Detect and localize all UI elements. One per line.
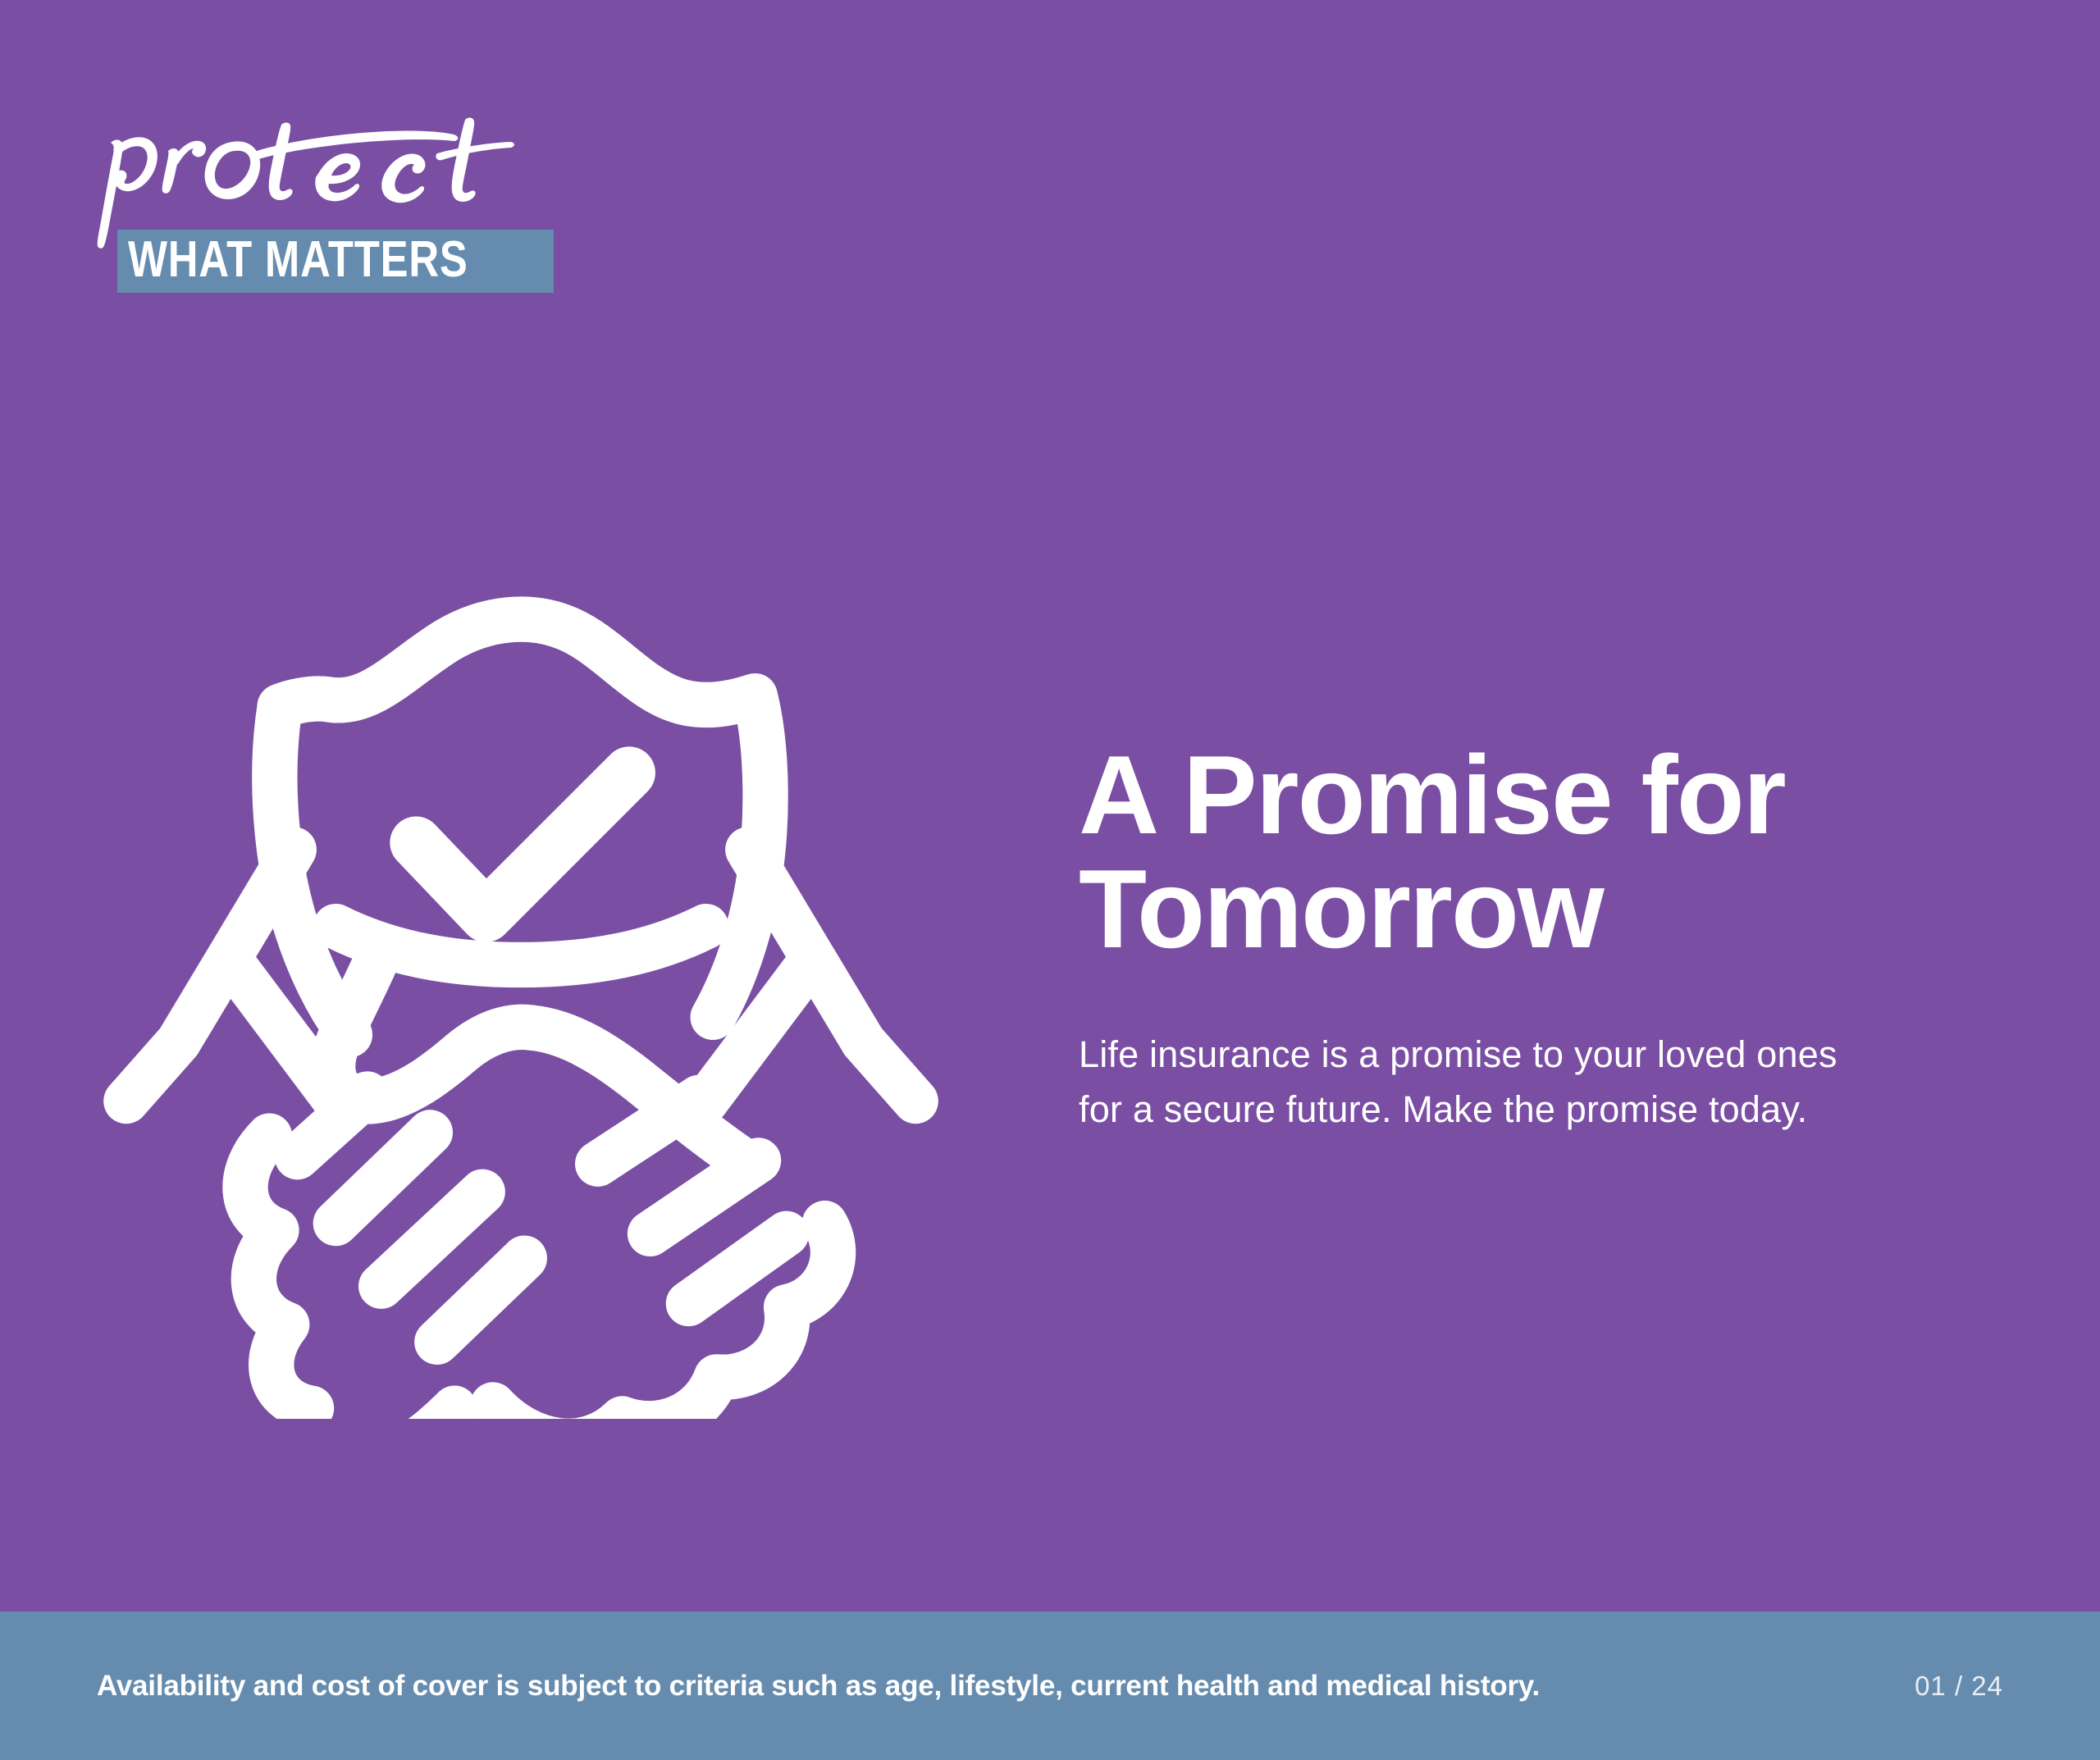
left-finger-3 [381, 1192, 482, 1286]
left-finger-4 [437, 1258, 524, 1342]
page-subtext: Life insurance is a promise to your love… [1079, 1028, 2006, 1137]
footer-page-indicator: 01 / 24 [1915, 1671, 2003, 1702]
brand-badge: WHAT MATTERS [117, 230, 554, 293]
shield-checkmark [416, 773, 629, 916]
slide-root: WHAT MATTERS [0, 0, 2100, 1760]
right-finger-2 [651, 1160, 759, 1233]
protect-script-wordmark [86, 92, 529, 252]
brand-logo: WHAT MATTERS [86, 92, 546, 252]
footer-disclaimer: Availability and cost of cover is subjec… [97, 1669, 1540, 1703]
left-finger-2 [336, 1133, 430, 1224]
right-finger-1 [598, 1097, 699, 1164]
brand-badge-label: WHAT MATTERS [128, 238, 468, 283]
text-column: A Promise for Tomorrow Life insurance is… [1079, 738, 2006, 1138]
page-title: A Promise for Tomorrow [1079, 738, 2006, 965]
right-cuff-line [863, 1042, 915, 1101]
left-cuff-line [126, 1042, 179, 1101]
footer-bar: Availability and cost of cover is subjec… [0, 1612, 2100, 1760]
shield-check-handshake-icon [74, 525, 968, 1419]
left-finger-1 [298, 1094, 367, 1157]
